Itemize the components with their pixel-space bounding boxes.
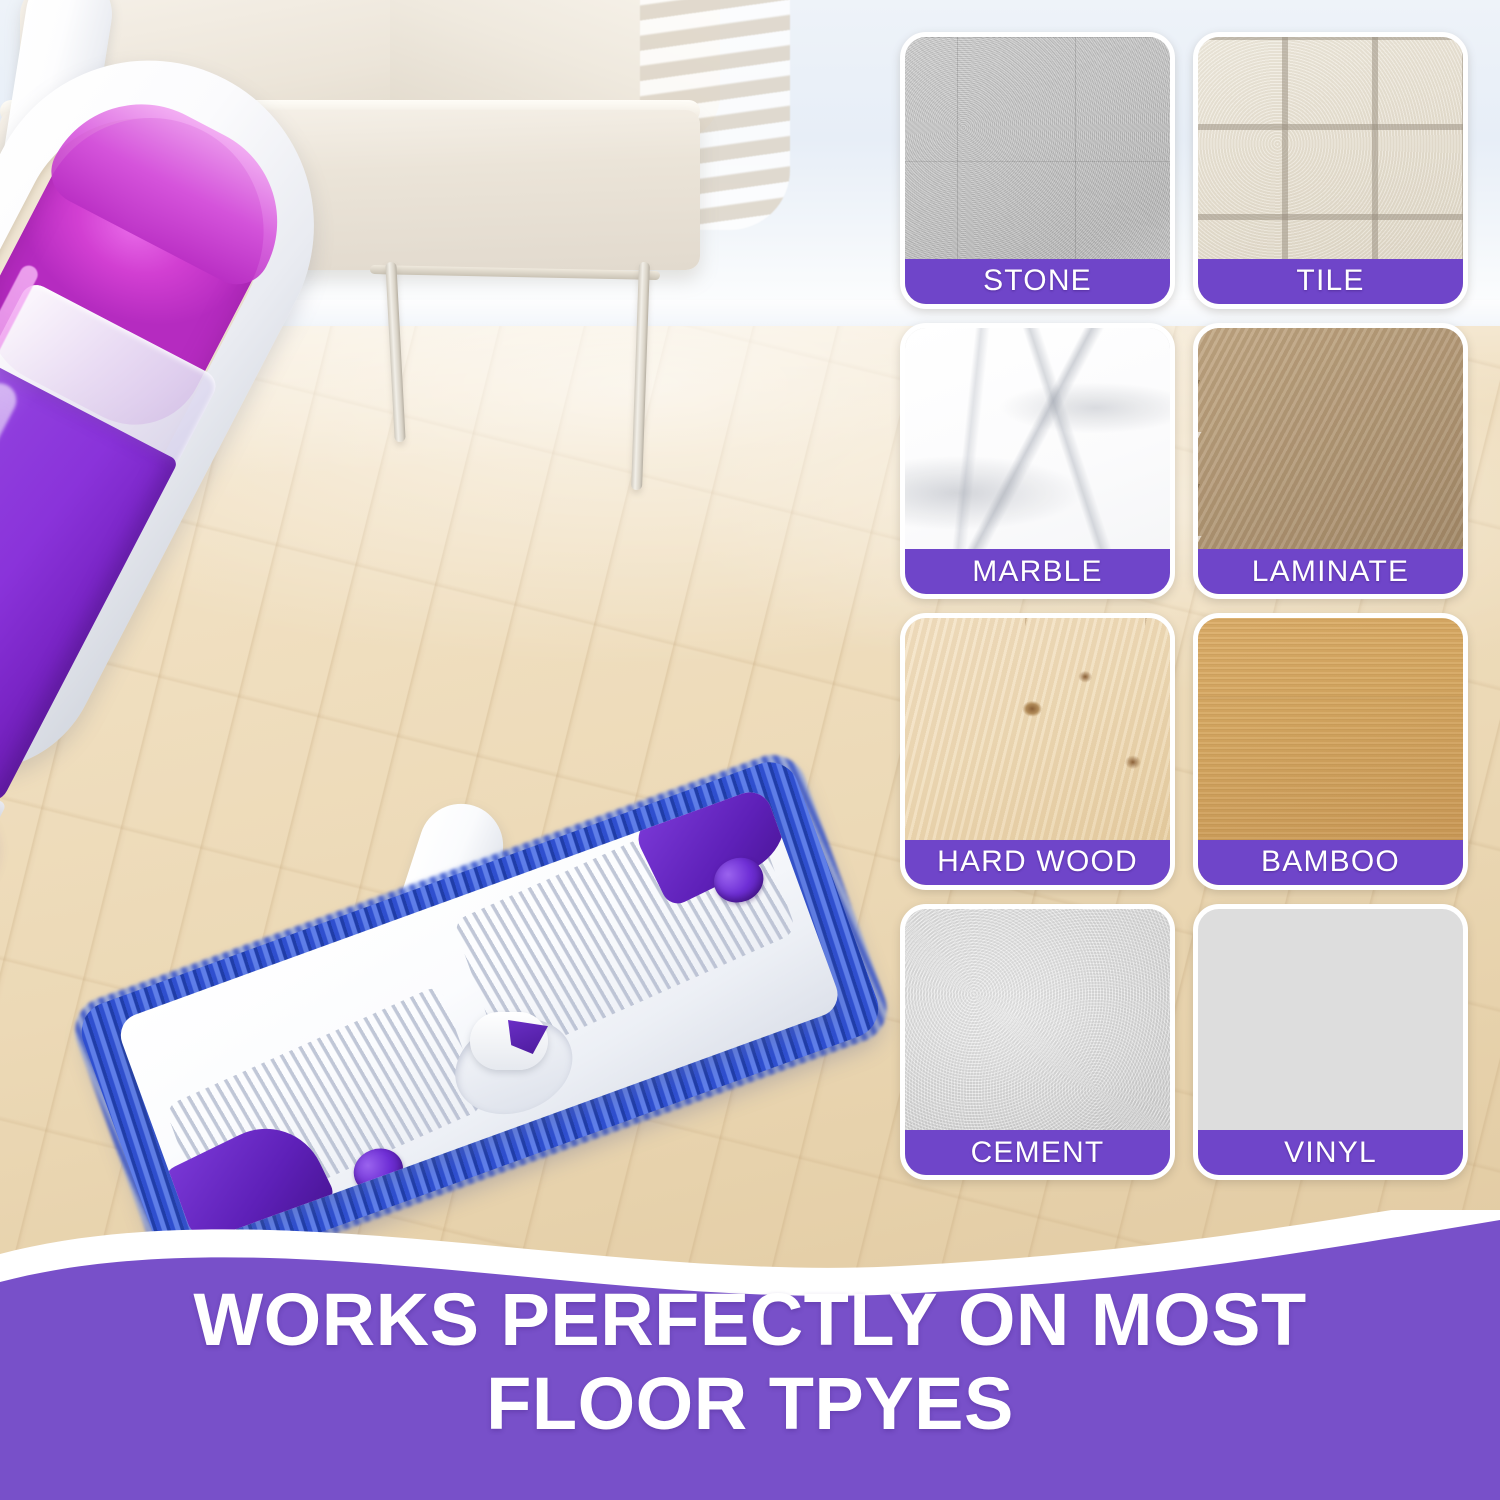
floor-type-label: TILE xyxy=(1198,259,1463,304)
floor-type-card-marble[interactable]: MARBLE xyxy=(900,323,1175,600)
banner-headline-line1: WORKS PERFECTLY ON MOST xyxy=(0,1278,1500,1362)
floor-type-label: LAMINATE xyxy=(1198,549,1463,594)
bottom-banner: WORKS PERFECTLY ON MOST FLOOR TPYES xyxy=(0,1210,1500,1500)
spray-mop-product xyxy=(0,0,920,1260)
floor-type-card-cement[interactable]: CEMENT xyxy=(900,904,1175,1181)
floor-type-card-bamboo[interactable]: BAMBOO xyxy=(1193,613,1468,890)
floor-type-label: VINYL xyxy=(1198,1130,1463,1175)
floor-type-card-stone[interactable]: STONE xyxy=(900,32,1175,309)
mop-body xyxy=(0,3,451,924)
floor-type-grid: STONETILEMARBLELAMINATEHARD WOODBAMBOOCE… xyxy=(900,32,1468,1180)
floor-type-label: CEMENT xyxy=(905,1130,1170,1175)
floor-type-card-laminate[interactable]: LAMINATE xyxy=(1193,323,1468,600)
floor-type-card-vinyl[interactable]: VINYL xyxy=(1193,904,1468,1181)
floor-type-label: BAMBOO xyxy=(1198,840,1463,885)
floor-type-label: MARBLE xyxy=(905,549,1170,594)
floor-type-label: STONE xyxy=(905,259,1170,304)
banner-headline-line2: FLOOR TPYES xyxy=(0,1362,1500,1446)
floor-type-card-tile[interactable]: TILE xyxy=(1193,32,1468,309)
floor-type-card-hard-wood[interactable]: HARD WOOD xyxy=(900,613,1175,890)
banner-headline: WORKS PERFECTLY ON MOST FLOOR TPYES xyxy=(0,1278,1500,1446)
floor-type-label: HARD WOOD xyxy=(905,840,1170,885)
infographic-canvas: STONETILEMARBLELAMINATEHARD WOODBAMBOOCE… xyxy=(0,0,1500,1500)
